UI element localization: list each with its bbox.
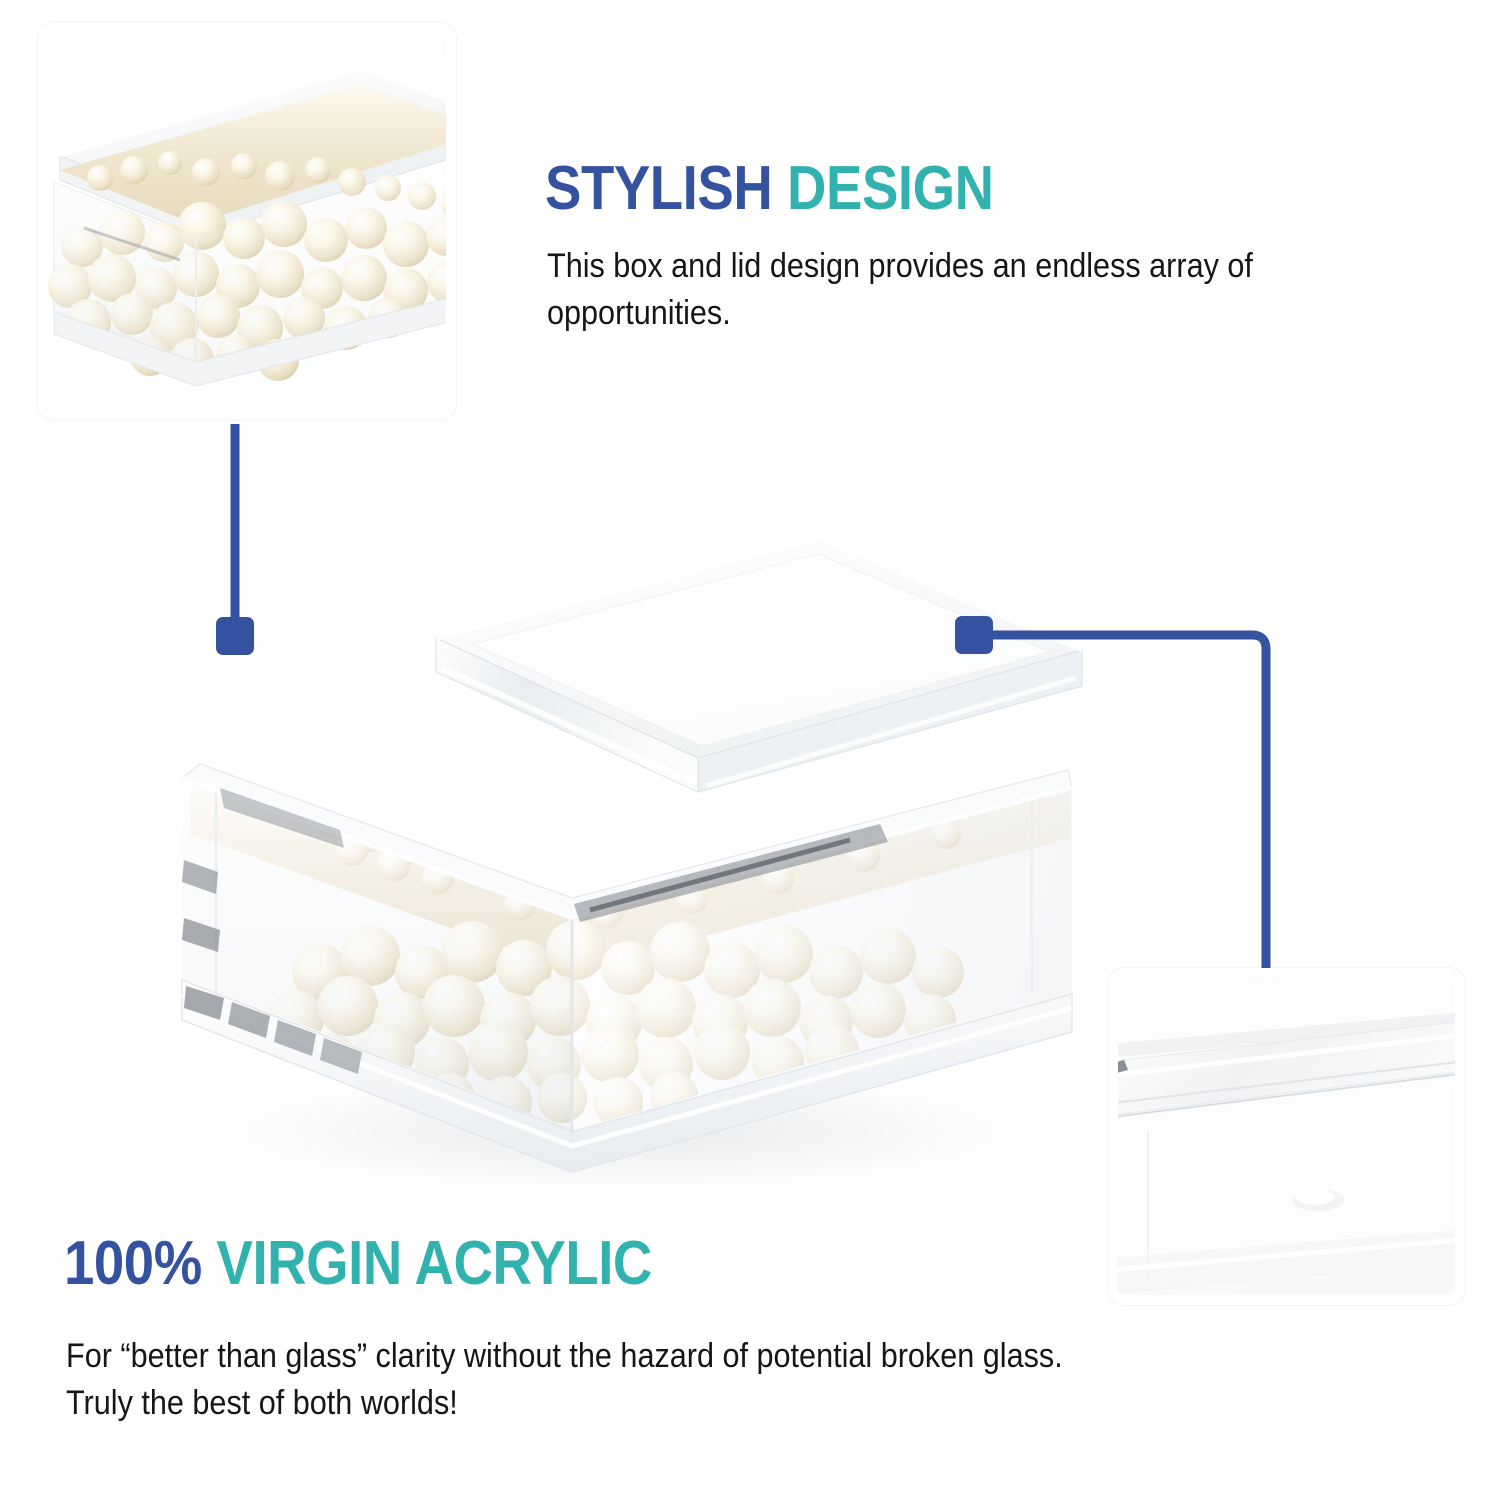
headline-virgin-acrylic-teal: VIRGIN ACRYLIC <box>217 1229 652 1298</box>
headline-virgin-acrylic: 100% VIRGIN ACRYLIC <box>64 1233 652 1295</box>
headline-virgin-acrylic-blue: 100% <box>64 1229 217 1298</box>
product-image-acrylic-box-with-pearls <box>120 520 1110 1200</box>
infographic-canvas: STYLISH DESIGN This box and lid design p… <box>0 0 1501 1501</box>
body-virgin-acrylic: For “better than glass” clarity without … <box>66 1333 1110 1427</box>
body-stylish-design: This box and lid design provides an endl… <box>547 243 1303 337</box>
acrylic-box-closeup-pearls-illustration <box>48 60 446 410</box>
headline-stylish-design-blue: STYLISH <box>545 154 787 223</box>
acrylic-lid-rim-closeup-illustration <box>1118 978 1455 1295</box>
headline-stylish-design: STYLISH DESIGN <box>545 158 994 220</box>
inset-bottom-right-image <box>1118 978 1455 1295</box>
inset-top-left-image <box>48 32 446 410</box>
inset-card-bottom-right <box>1108 968 1465 1305</box>
headline-stylish-design-teal: DESIGN <box>787 154 994 223</box>
inset-card-top-left <box>38 22 456 420</box>
